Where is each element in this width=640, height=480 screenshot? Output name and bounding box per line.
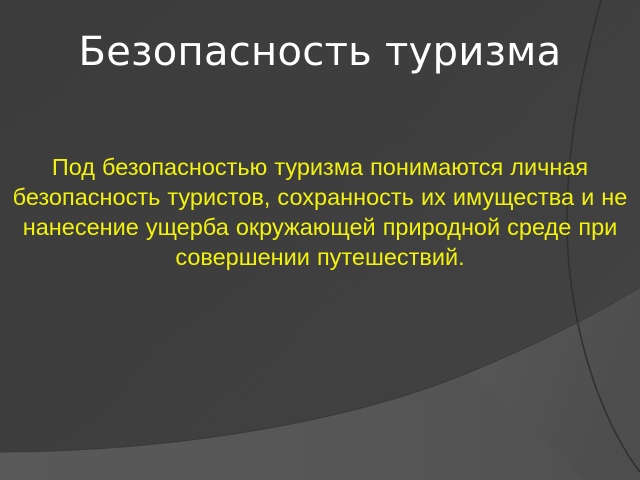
page-title: Безопасность туризма [79, 30, 562, 75]
slide-body-text: Под безопасностью туризма понимаются лич… [8, 152, 632, 272]
slide-title-block: Безопасность туризма [0, 30, 640, 75]
presentation-slide: Безопасность туризма Под безопасностью т… [0, 0, 640, 480]
slide-body-block: Под безопасностью туризма понимаются лич… [8, 152, 632, 272]
slide-content: Безопасность туризма Под безопасностью т… [0, 0, 640, 480]
